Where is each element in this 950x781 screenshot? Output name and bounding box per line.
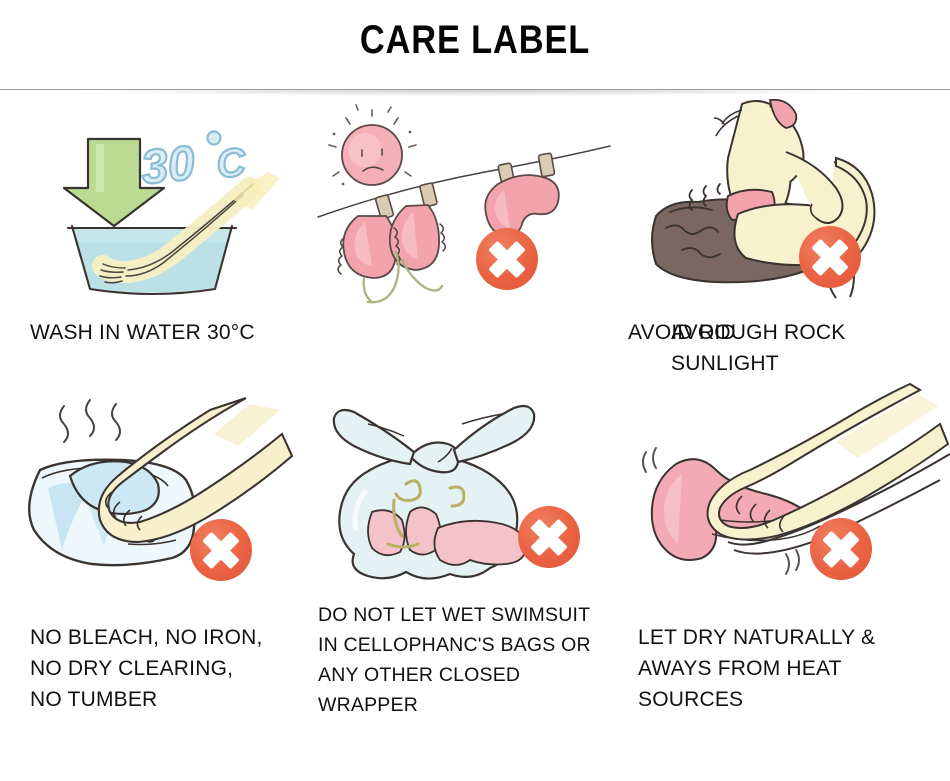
care-instruction-grid: 30 C [0,92,950,781]
wash-in-water-svg: 30 C [0,92,310,307]
panel-caption-no-bleach-no-iron: NO BLEACH, NO IRON, NO DRY CLEARING, NO … [30,622,263,715]
page-title: CARE LABEL [67,18,884,63]
wash-in-water-illustration: 30 C [0,92,310,307]
bikini-top-icon [338,205,445,302]
prohibition-x-icon [518,506,580,568]
panel-no-closed-wrapper: DO NOT LET WET SWIMSUIT IN CELLOPHANC'S … [310,384,620,781]
avoid-sunlight-illustration [310,92,620,307]
panel-caption-avoid-rough-rock: AVOID ROUGH ROCK [628,317,846,348]
avoid-rough-rock-svg [620,92,950,307]
temperature-30c-icon: 30 C [139,132,249,195]
panel-avoid-sunlight: AVOID SUNLIGHT [310,92,620,384]
care-label-page: CARE LABEL [0,0,950,781]
panel-caption-no-closed-wrapper: DO NOT LET WET SWIMSUIT IN CELLOPHANC'S … [318,600,591,720]
prohibition-x-icon [810,518,872,580]
panel-caption-wash-in-water: WASH IN WATER 30°C [30,317,255,348]
prohibition-x-icon [190,519,252,581]
prohibition-x-icon [476,228,538,290]
let-dry-naturally-svg [620,384,950,599]
prohibition-x-icon [799,226,861,288]
panel-caption-let-dry-naturally: LET DRY NATURALLY & AWAYS FROM HEAT SOUR… [638,622,875,715]
no-iron-svg [0,384,310,599]
sad-sun-icon [329,105,416,185]
panel-wash-in-water: 30 C [0,92,310,384]
no-closed-wrapper-illustration [310,384,620,599]
header: CARE LABEL [0,0,950,90]
steam-lines-icon [60,400,120,442]
avoid-rough-rock-illustration [620,92,950,307]
panel-no-bleach-no-iron: NO BLEACH, NO IRON, NO DRY CLEARING, NO … [0,384,310,781]
svg-text:30: 30 [139,137,198,195]
panel-avoid-rough-rock: AVOID ROUGH ROCK [620,92,950,384]
panel-let-dry-naturally: LET DRY NATURALLY & AWAYS FROM HEAT SOUR… [620,384,950,781]
let-dry-naturally-illustration [620,384,950,599]
no-iron-illustration [0,384,310,599]
avoid-sunlight-svg [310,92,620,307]
